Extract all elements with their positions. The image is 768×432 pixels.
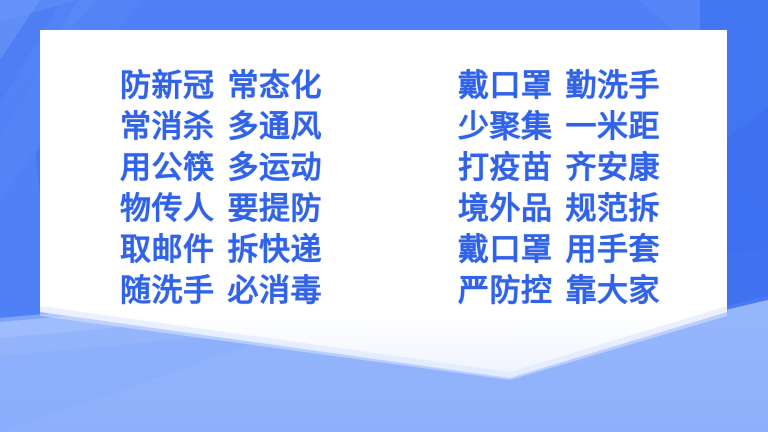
slogan-row: 用公筷 多运动	[120, 148, 322, 189]
slogan-row: 物传人 要提防	[120, 189, 322, 230]
slogan-phrase: 境外品	[458, 189, 553, 230]
slogan-phrase: 拆快递	[228, 230, 323, 271]
slogan-phrase: 齐安康	[566, 148, 661, 189]
slogan-phrase: 勤洗手	[566, 66, 661, 107]
slogan-phrase: 要提防	[228, 189, 323, 230]
slogan-phrase: 严防控	[458, 271, 553, 312]
slogan-phrase: 少聚集	[458, 107, 553, 148]
slogan-phrase: 随洗手	[120, 271, 215, 312]
slogan-phrase: 打疫苗	[458, 148, 553, 189]
slogan-phrase: 物传人	[120, 189, 215, 230]
slogan-phrase: 规范拆	[566, 189, 661, 230]
slogan-grid: 防新冠 常态化 常消杀 多通风 用公筷 多运动 物传人 要提防 取邮件	[120, 66, 660, 316]
slogan-column-right: 戴口罩 勤洗手 少聚集 一米距 打疫苗 齐安康 境外品 规范拆 戴口罩	[458, 66, 660, 312]
slogan-row: 打疫苗 齐安康	[458, 148, 660, 189]
slogan-row: 严防控 靠大家	[458, 271, 660, 312]
slogan-phrase: 戴口罩	[458, 230, 553, 271]
poster-canvas: 防新冠 常态化 常消杀 多通风 用公筷 多运动 物传人 要提防 取邮件	[0, 0, 768, 432]
slogan-row: 戴口罩 用手套	[458, 230, 660, 271]
slogan-phrase: 多通风	[228, 107, 323, 148]
slogan-column-left: 防新冠 常态化 常消杀 多通风 用公筷 多运动 物传人 要提防 取邮件	[120, 66, 322, 312]
slogan-phrase: 多运动	[228, 148, 323, 189]
slogan-phrase: 必消毒	[228, 271, 323, 312]
slogan-row: 随洗手 必消毒	[120, 271, 322, 312]
slogan-phrase: 用公筷	[120, 148, 215, 189]
slogan-phrase: 戴口罩	[458, 66, 553, 107]
slogan-phrase: 一米距	[566, 107, 661, 148]
slogan-row: 取邮件 拆快递	[120, 230, 322, 271]
slogan-phrase: 防新冠	[120, 66, 215, 107]
slogan-phrase: 用手套	[566, 230, 661, 271]
slogan-row: 少聚集 一米距	[458, 107, 660, 148]
slogan-row: 境外品 规范拆	[458, 189, 660, 230]
slogan-row: 常消杀 多通风	[120, 107, 322, 148]
slogan-row: 防新冠 常态化	[120, 66, 322, 107]
slogan-phrase: 常消杀	[120, 107, 215, 148]
slogan-phrase: 靠大家	[566, 271, 661, 312]
slogan-phrase: 取邮件	[120, 230, 215, 271]
slogan-row: 戴口罩 勤洗手	[458, 66, 660, 107]
slogan-phrase: 常态化	[228, 66, 323, 107]
